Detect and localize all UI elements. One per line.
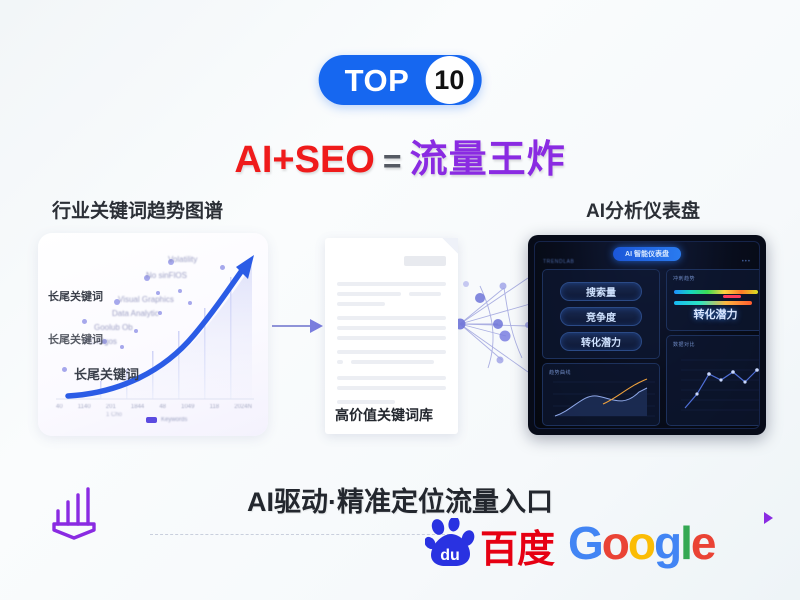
baidu-du-text: du xyxy=(440,547,460,564)
footer-divider xyxy=(150,534,450,535)
axis-tick: 1140 xyxy=(78,404,91,410)
chart-keyword-label: 长尾关键词 xyxy=(48,331,103,347)
chart-blur-word: Data Analytic xyxy=(112,309,159,318)
metric-pill-search-volume[interactable]: 搜索量 xyxy=(560,282,642,301)
chart-canvas: Volatility No sinFlOS Visual Graphics Da… xyxy=(38,233,268,436)
google-letter-g2: g xyxy=(654,520,680,566)
chart-blur-word: No sinFlOS xyxy=(146,271,187,280)
document-text-line xyxy=(337,400,395,404)
panel-title: 冲刺趋势 xyxy=(673,275,695,282)
scatter-dot xyxy=(134,329,138,333)
metric-pill-conversion[interactable]: 转化潜力 xyxy=(560,332,642,351)
keyword-library-document-card: 高价值关键词库 xyxy=(325,238,458,434)
dashboard-line-chart-panel: 数据对比 xyxy=(666,335,760,426)
axis-tick: 48 xyxy=(159,404,166,410)
gradient-bar-secondary xyxy=(674,301,752,305)
baidu-logo: du 百度 xyxy=(425,518,554,568)
chart-keyword-label: 长尾关键词 xyxy=(48,288,103,304)
chart-blur-word: Visual Graphics xyxy=(118,295,174,304)
area-chart-svg xyxy=(543,364,661,427)
chart-legend: Keywords xyxy=(146,417,187,423)
title-right-part: 流量王炸 xyxy=(410,139,566,181)
chart-x-axis-ticks: 40 1140 201 1844 48 1049 118 2024N xyxy=(56,404,252,410)
google-logo: G o o g l e xyxy=(568,520,714,566)
title-left-part: AI+SEO xyxy=(234,139,374,181)
gradient-bar-primary xyxy=(674,290,758,294)
document-text-line xyxy=(337,376,446,380)
panel-overlay-word: 转化潜力 xyxy=(694,306,738,322)
top-rank-badge: TOP 10 xyxy=(319,55,482,105)
document-text-line xyxy=(337,292,401,296)
axis-tick: 40 xyxy=(56,404,63,410)
scatter-dot xyxy=(62,367,67,372)
footer-tagline: AI驱动·精准定位流量入口 xyxy=(0,480,800,519)
axis-tick: 118 xyxy=(210,404,220,410)
google-letter-l: l xyxy=(680,520,691,566)
top-badge-label: TOP xyxy=(319,65,426,96)
google-letter-o2: o xyxy=(628,520,654,566)
node-network-graphic xyxy=(458,268,532,380)
line-chart-svg xyxy=(667,336,760,427)
axis-tick: 201 xyxy=(106,404,116,410)
document-text-line xyxy=(351,360,434,364)
scatter-dot xyxy=(220,265,225,270)
document-text-line xyxy=(409,292,441,296)
dashboard-gradient-panel: 冲刺趋势 转化潜力 xyxy=(666,269,760,331)
scatter-dot xyxy=(82,319,87,324)
chart-keyword-label: 长尾关键词 xyxy=(74,364,139,383)
baidu-paw-icon: du xyxy=(425,518,479,568)
section-heading-left: 行业关键词趋势图谱 xyxy=(52,196,223,223)
gradient-bar-marker xyxy=(723,295,741,298)
section-heading-right: AI分析仪表盘 xyxy=(586,196,700,223)
scatter-dot xyxy=(178,289,182,293)
dashboard-title-badge: AI 智能仪表盘 xyxy=(613,247,681,261)
metric-pill-competition[interactable]: 竞争度 xyxy=(560,307,642,326)
document-header-block xyxy=(404,256,446,266)
document-text-line xyxy=(337,336,446,340)
dashboard-menu-icon[interactable]: ••• xyxy=(742,259,751,265)
chart-x-axis-caption: 1 Cho xyxy=(106,412,122,418)
document-text-line xyxy=(337,282,446,286)
flow-arrow-icon xyxy=(272,318,324,334)
page-title: AI+SEO=流量王炸 xyxy=(0,128,800,183)
scatter-dot xyxy=(188,301,192,305)
search-engine-logos: du 百度 G o o g l e xyxy=(425,518,715,568)
baidu-wordmark: 百度 xyxy=(480,532,554,568)
document-bullet xyxy=(337,360,343,364)
axis-tick: 1049 xyxy=(181,404,194,410)
document-card-label: 高价值关键词库 xyxy=(335,405,433,425)
keyword-trend-chart-card: Volatility No sinFlOS Visual Graphics Da… xyxy=(38,233,268,436)
document-folded-corner-icon xyxy=(442,238,458,254)
dashboard-metrics-panel: 搜索量 竞争度 转化潜力 xyxy=(542,269,660,359)
axis-tick: 1844 xyxy=(131,404,144,410)
document-text-line xyxy=(337,326,446,330)
play-triangle-icon xyxy=(764,512,773,524)
google-letter-e: e xyxy=(691,520,715,566)
top-badge-number: 10 xyxy=(425,56,473,104)
google-letter-o1: o xyxy=(602,520,628,566)
dashboard-screen: AI 智能仪表盘 TRENDLAB ••• 搜索量 竞争度 转化潜力 趋势曲线 xyxy=(534,241,760,429)
document-text-line xyxy=(337,350,446,354)
ai-dashboard-device: AI 智能仪表盘 TRENDLAB ••• 搜索量 竞争度 转化潜力 趋势曲线 xyxy=(528,235,766,435)
document-text-line xyxy=(337,302,385,306)
scatter-dot xyxy=(120,345,124,349)
document-text-line xyxy=(337,316,446,320)
document-text-line xyxy=(337,386,446,390)
chart-blur-word: Volatility xyxy=(168,255,197,264)
axis-tick: 2024N xyxy=(234,404,252,410)
legend-label: Keywords xyxy=(161,417,187,423)
legend-swatch xyxy=(146,417,157,423)
dashboard-area-chart-panel: 趋势曲线 xyxy=(542,363,660,426)
title-equals-sign: = xyxy=(383,143,402,179)
google-letter-g1: G xyxy=(568,520,602,566)
dashboard-brand-label: TRENDLAB xyxy=(543,259,574,265)
